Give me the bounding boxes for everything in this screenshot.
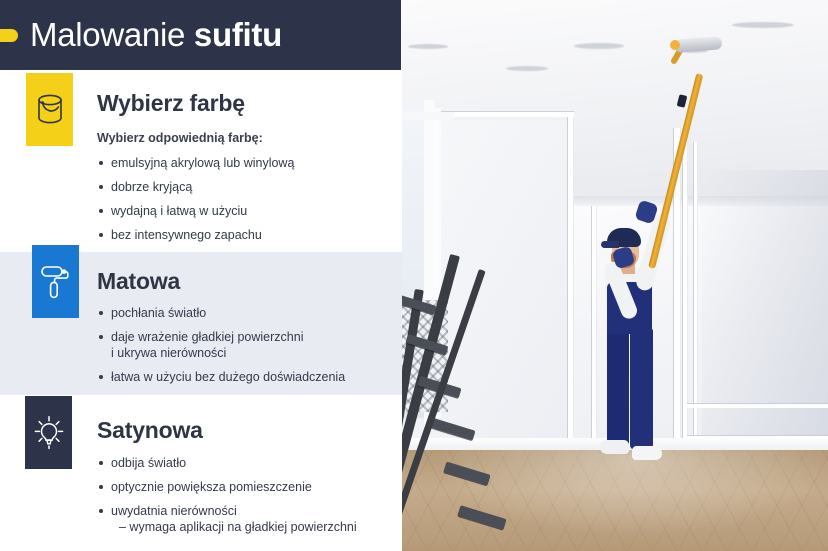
bullet-dot-icon bbox=[99, 161, 103, 165]
paint-roller-icon bbox=[40, 262, 71, 302]
photo-painter-shoe bbox=[600, 440, 629, 454]
list-item-continuation: – wymaga aplikacji na gładkiej powierzch… bbox=[111, 519, 357, 535]
infographic-root: Malowanie sufitu Wybierz farbę Wybierz o… bbox=[0, 0, 828, 551]
bullet-dot-icon bbox=[99, 485, 103, 489]
photo-window-sill bbox=[402, 112, 454, 120]
bullet-list-matowa: pochłania światło daje wrażenie gładkiej… bbox=[98, 305, 345, 393]
bullet-list-wybierz-farbe: emulsyjną akrylową lub winylową dobrze k… bbox=[98, 155, 294, 251]
bullet-list-satynowa: odbija światło optycznie powiększa pomie… bbox=[98, 455, 357, 543]
bullet-dot-icon bbox=[99, 375, 103, 379]
photo-roller-knob bbox=[670, 40, 680, 50]
photo-wall-shadow bbox=[702, 170, 828, 460]
list-item: uwydatnia nierówności– wymaga aplikacji … bbox=[98, 503, 357, 535]
list-item: pochłania światło bbox=[98, 305, 345, 321]
bullet-dot-icon bbox=[99, 311, 103, 315]
photo-painter-leg bbox=[630, 328, 653, 450]
photo-painter-cap-brim bbox=[601, 241, 619, 248]
photo-painter-leg bbox=[607, 328, 629, 448]
photo-panel-line bbox=[592, 206, 596, 446]
paint-bucket-icon bbox=[34, 93, 66, 127]
bullet-dot-icon bbox=[99, 185, 103, 189]
paint-bucket-badge bbox=[26, 73, 73, 146]
list-item-text: wydajną i łatwą w użyciu bbox=[111, 204, 247, 218]
photo-panel-line bbox=[694, 142, 697, 436]
list-item: optycznie powiększa pomieszczenie bbox=[98, 479, 357, 495]
photo-painter-shoe bbox=[632, 446, 662, 460]
list-item-text: emulsyjną akrylową lub winylową bbox=[111, 156, 294, 170]
page-title-light: Malowanie bbox=[30, 16, 194, 53]
photo-ceiling-streak bbox=[506, 66, 548, 71]
list-item: wydajną i łatwą w użyciu bbox=[98, 203, 294, 219]
list-item-text: łatwa w użyciu bez dużego doświadczenia bbox=[111, 370, 345, 384]
photo-panel-line bbox=[683, 140, 687, 440]
bullet-dot-icon bbox=[99, 233, 103, 237]
section-heading-satynowa: Satynowa bbox=[97, 417, 203, 444]
content-column: Malowanie sufitu Wybierz farbę Wybierz o… bbox=[0, 0, 402, 551]
list-item-continuation: i ukrywa nierówności bbox=[111, 345, 345, 361]
photo-panel-line bbox=[687, 404, 828, 408]
bullet-dot-icon bbox=[99, 461, 103, 465]
header-accent-pill bbox=[0, 29, 18, 42]
bullet-dot-icon bbox=[99, 509, 103, 513]
list-item: bez intensywnego zapachu bbox=[98, 227, 294, 243]
list-item-text: daje wrażenie gładkiej powierzchni bbox=[111, 330, 303, 344]
bullet-dot-icon bbox=[99, 335, 103, 339]
list-item-text: dobrze kryjącą bbox=[111, 180, 192, 194]
list-item: łatwa w użyciu bez dużego doświadczenia bbox=[98, 369, 345, 385]
photo-floor-sheen bbox=[402, 450, 828, 551]
photo-wall-corner bbox=[568, 112, 573, 452]
light-bulb-badge bbox=[25, 396, 72, 469]
page-title-strong: sufitu bbox=[194, 16, 282, 53]
light-bulb-icon bbox=[32, 415, 66, 451]
list-item-text: pochłania światło bbox=[111, 306, 206, 320]
page-title: Malowanie sufitu bbox=[30, 12, 282, 58]
photo-ceiling-streak bbox=[408, 44, 448, 49]
list-item: dobrze kryjącą bbox=[98, 179, 294, 195]
paint-roller-badge bbox=[32, 245, 79, 318]
list-item: odbija światło bbox=[98, 455, 357, 471]
list-item-text: uwydatnia nierówności bbox=[111, 504, 237, 518]
photo-ceiling-streak bbox=[732, 22, 794, 28]
section-intro-wybierz-farbe: Wybierz odpowiednią farbę: bbox=[97, 131, 263, 145]
list-item: emulsyjną akrylową lub winylową bbox=[98, 155, 294, 171]
photo-painter-ceiling bbox=[402, 0, 828, 551]
list-item: daje wrażenie gładkiej powierzchnii ukry… bbox=[98, 329, 345, 361]
list-item-text: optycznie powiększa pomieszczenie bbox=[111, 480, 312, 494]
section-heading-wybierz-farbe: Wybierz farbę bbox=[97, 90, 245, 117]
section-heading-matowa: Matowa bbox=[97, 268, 180, 295]
list-item-text: bez intensywnego zapachu bbox=[111, 228, 262, 242]
photo-ceiling-streak bbox=[574, 43, 624, 49]
list-item-text: odbija światło bbox=[111, 456, 186, 470]
bullet-dot-icon bbox=[99, 209, 103, 213]
